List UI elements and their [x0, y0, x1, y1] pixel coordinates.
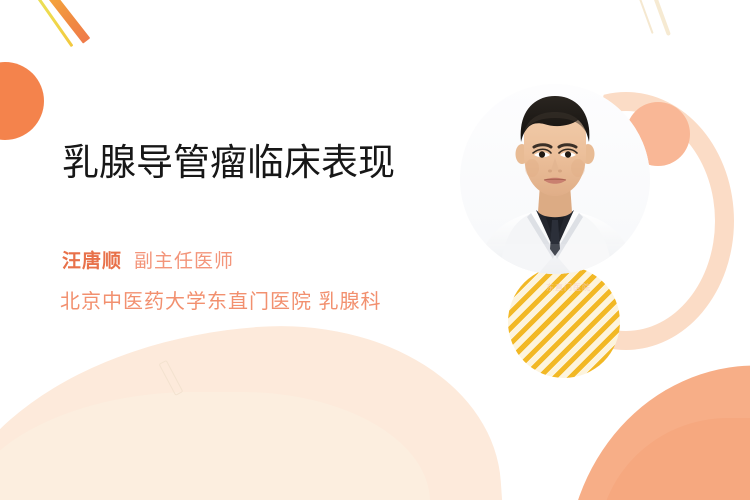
page-title: 乳腺导管瘤临床表现: [62, 141, 412, 185]
slide-canvas: 东直门医院 乳腺导管瘤临床表现 汪唐顺副主任医师 北京中医药大学东直门医院 乳腺…: [0, 0, 750, 500]
diagonal-stroke-cream-b-icon: [638, 0, 654, 34]
doctor-affiliation: 北京中医药大学东直门医院 乳腺科: [60, 288, 382, 316]
byline: 汪唐顺副主任医师: [62, 248, 234, 276]
doctor-photo: [460, 84, 650, 274]
doctor-photo-illustration: [460, 84, 650, 274]
diagonal-stroke-cream-a-icon: [652, 0, 671, 36]
doctor-job-title: 副主任医师: [134, 251, 234, 272]
coat-watermark-text: 东直门医院: [546, 282, 591, 293]
orange-circle-decoration: [0, 62, 44, 140]
portrait-cluster: 东直门医院: [440, 70, 740, 370]
doctor-name: 汪唐顺: [62, 251, 122, 272]
